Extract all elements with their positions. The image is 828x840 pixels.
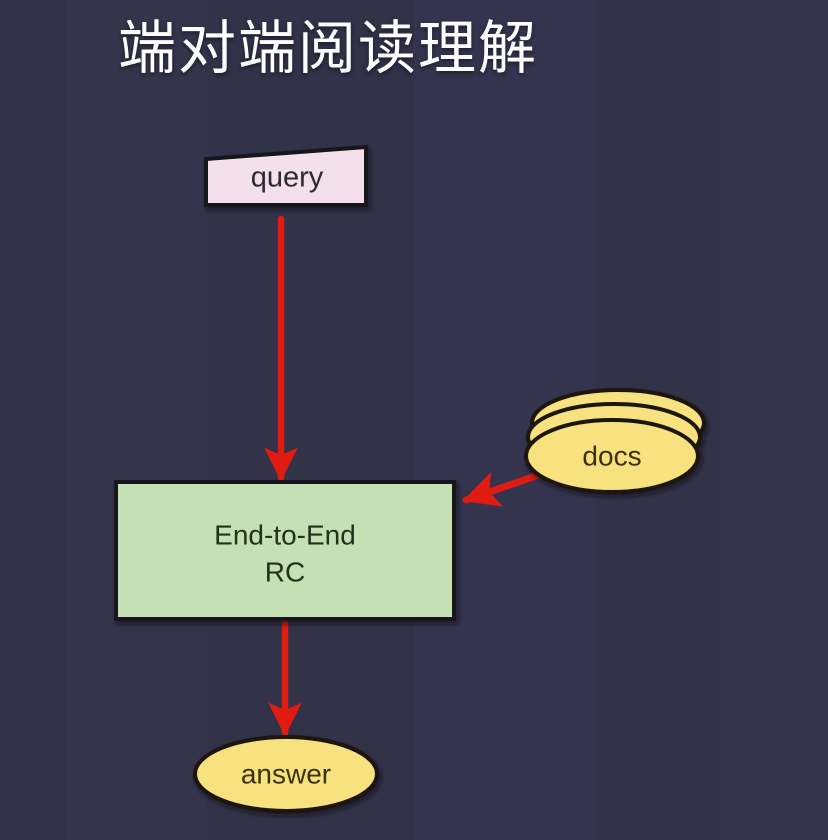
node-query[interactable]: query	[206, 147, 366, 205]
process-shape[interactable]	[116, 482, 454, 619]
diagram-canvas: 端对端阅读理解 query End-to-End	[0, 0, 828, 840]
node-process[interactable]: End-to-End RC	[116, 482, 454, 619]
node-docs[interactable]: docs	[526, 390, 704, 492]
node-answer[interactable]: answer	[195, 737, 377, 811]
docs-label: docs	[582, 440, 641, 471]
flow-diagram: query End-to-End RC docs answer	[0, 0, 828, 840]
process-label-line1: End-to-End	[214, 519, 356, 550]
answer-label: answer	[241, 758, 331, 789]
process-label-line2: RC	[265, 556, 305, 587]
query-label: query	[251, 162, 324, 194]
